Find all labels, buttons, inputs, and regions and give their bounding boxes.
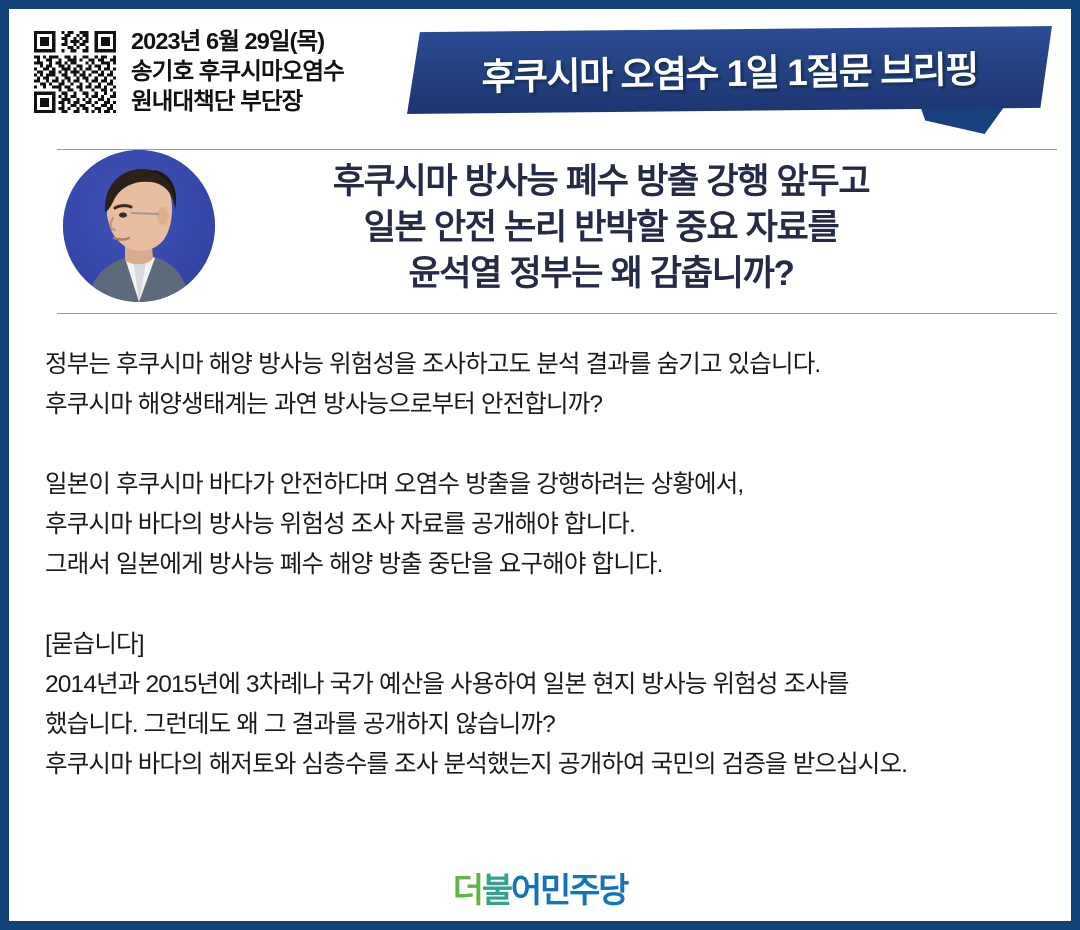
paragraph-3: [묻습니다] 2014년과 2015년에 3차례나 국가 예산을 사용하여 일본… (45, 625, 1055, 785)
briefing-card: 2023년 6월 29일(목) 송기호 후쿠시마오염수 원내대책단 부단장 후쿠… (0, 0, 1080, 930)
party-logo: 더불어민주당 (9, 863, 1071, 912)
divider-top (57, 149, 1057, 150)
divider-bottom (57, 313, 1057, 314)
paragraph-2-line-1: 일본이 후쿠시마 바다가 안전하다며 오염수 방출을 강행하려는 상황에서, (45, 465, 1055, 505)
briefing-banner: 후쿠시마 오염수 1일 1질문 브리핑 (407, 26, 1057, 138)
paragraph-2-line-3: 그래서 일본에게 방사능 폐수 해양 방출 중단을 요구해야 합니다. (45, 545, 1055, 585)
paragraph-1-line-2: 후쿠시마 해양생태계는 과연 방사능으로부터 안전합니까? (45, 385, 1055, 425)
speaker-portrait-avatar (63, 150, 215, 302)
title-line-3: 윤석열 정부는 왜 감춥니까? (221, 251, 981, 297)
title-line-2: 일본 안전 논리 반박할 중요 자료를 (221, 205, 981, 251)
banner-text-wrap: 후쿠시마 오염수 1일 1질문 브리핑 (406, 21, 1052, 119)
speaker-role-line: 원내대책단 부단장 (131, 86, 391, 116)
speaker-name-line: 송기호 후쿠시마오염수 (131, 56, 391, 86)
paragraph-3-line-1: 2014년과 2015년에 3차례나 국가 예산을 사용하여 일본 현지 방사능… (45, 665, 1055, 705)
paragraph-3-line-2: 했습니다. 그런데도 왜 그 결과를 공개하지 않습니까? (45, 705, 1055, 745)
page-title: 후쿠시마 방사능 폐수 방출 강행 앞두고 일본 안전 논리 반박할 중요 자료… (221, 159, 981, 297)
body-copy: 정부는 후쿠시마 해양 방사능 위험성을 조사하고도 분석 결과를 숨기고 있습… (45, 345, 1055, 785)
party-logo-part-2: 불 (482, 872, 511, 910)
banner-label: 후쿠시마 오염수 1일 1질문 브리핑 (481, 39, 978, 101)
party-logo-part-3: 어민주당 (511, 872, 627, 910)
qr-code-icon (31, 28, 119, 116)
speaker-meta: 2023년 6월 29일(목) 송기호 후쿠시마오염수 원내대책단 부단장 (131, 26, 391, 116)
header-row: 2023년 6월 29일(목) 송기호 후쿠시마오염수 원내대책단 부단장 후쿠… (9, 9, 1071, 131)
paragraph-2: 일본이 후쿠시마 바다가 안전하다며 오염수 방출을 강행하려는 상황에서, 후… (45, 465, 1055, 585)
party-logo-part-1: 더 (453, 872, 482, 910)
briefing-date: 2023년 6월 29일(목) (131, 26, 391, 56)
paragraph-1: 정부는 후쿠시마 해양 방사능 위험성을 조사하고도 분석 결과를 숨기고 있습… (45, 345, 1055, 425)
paragraph-3-line-3: 후쿠시마 바다의 해저토와 심층수를 조사 분석했는지 공개하여 국민의 검증을… (45, 745, 1055, 785)
paragraph-2-line-2: 후쿠시마 바다의 방사능 위험성 조사 자료를 공개해야 합니다. (45, 505, 1055, 545)
paragraph-1-line-1: 정부는 후쿠시마 해양 방사능 위험성을 조사하고도 분석 결과를 숨기고 있습… (45, 345, 1055, 385)
questions-heading: [묻습니다] (45, 625, 1055, 665)
title-line-1: 후쿠시마 방사능 폐수 방출 강행 앞두고 (221, 159, 981, 205)
